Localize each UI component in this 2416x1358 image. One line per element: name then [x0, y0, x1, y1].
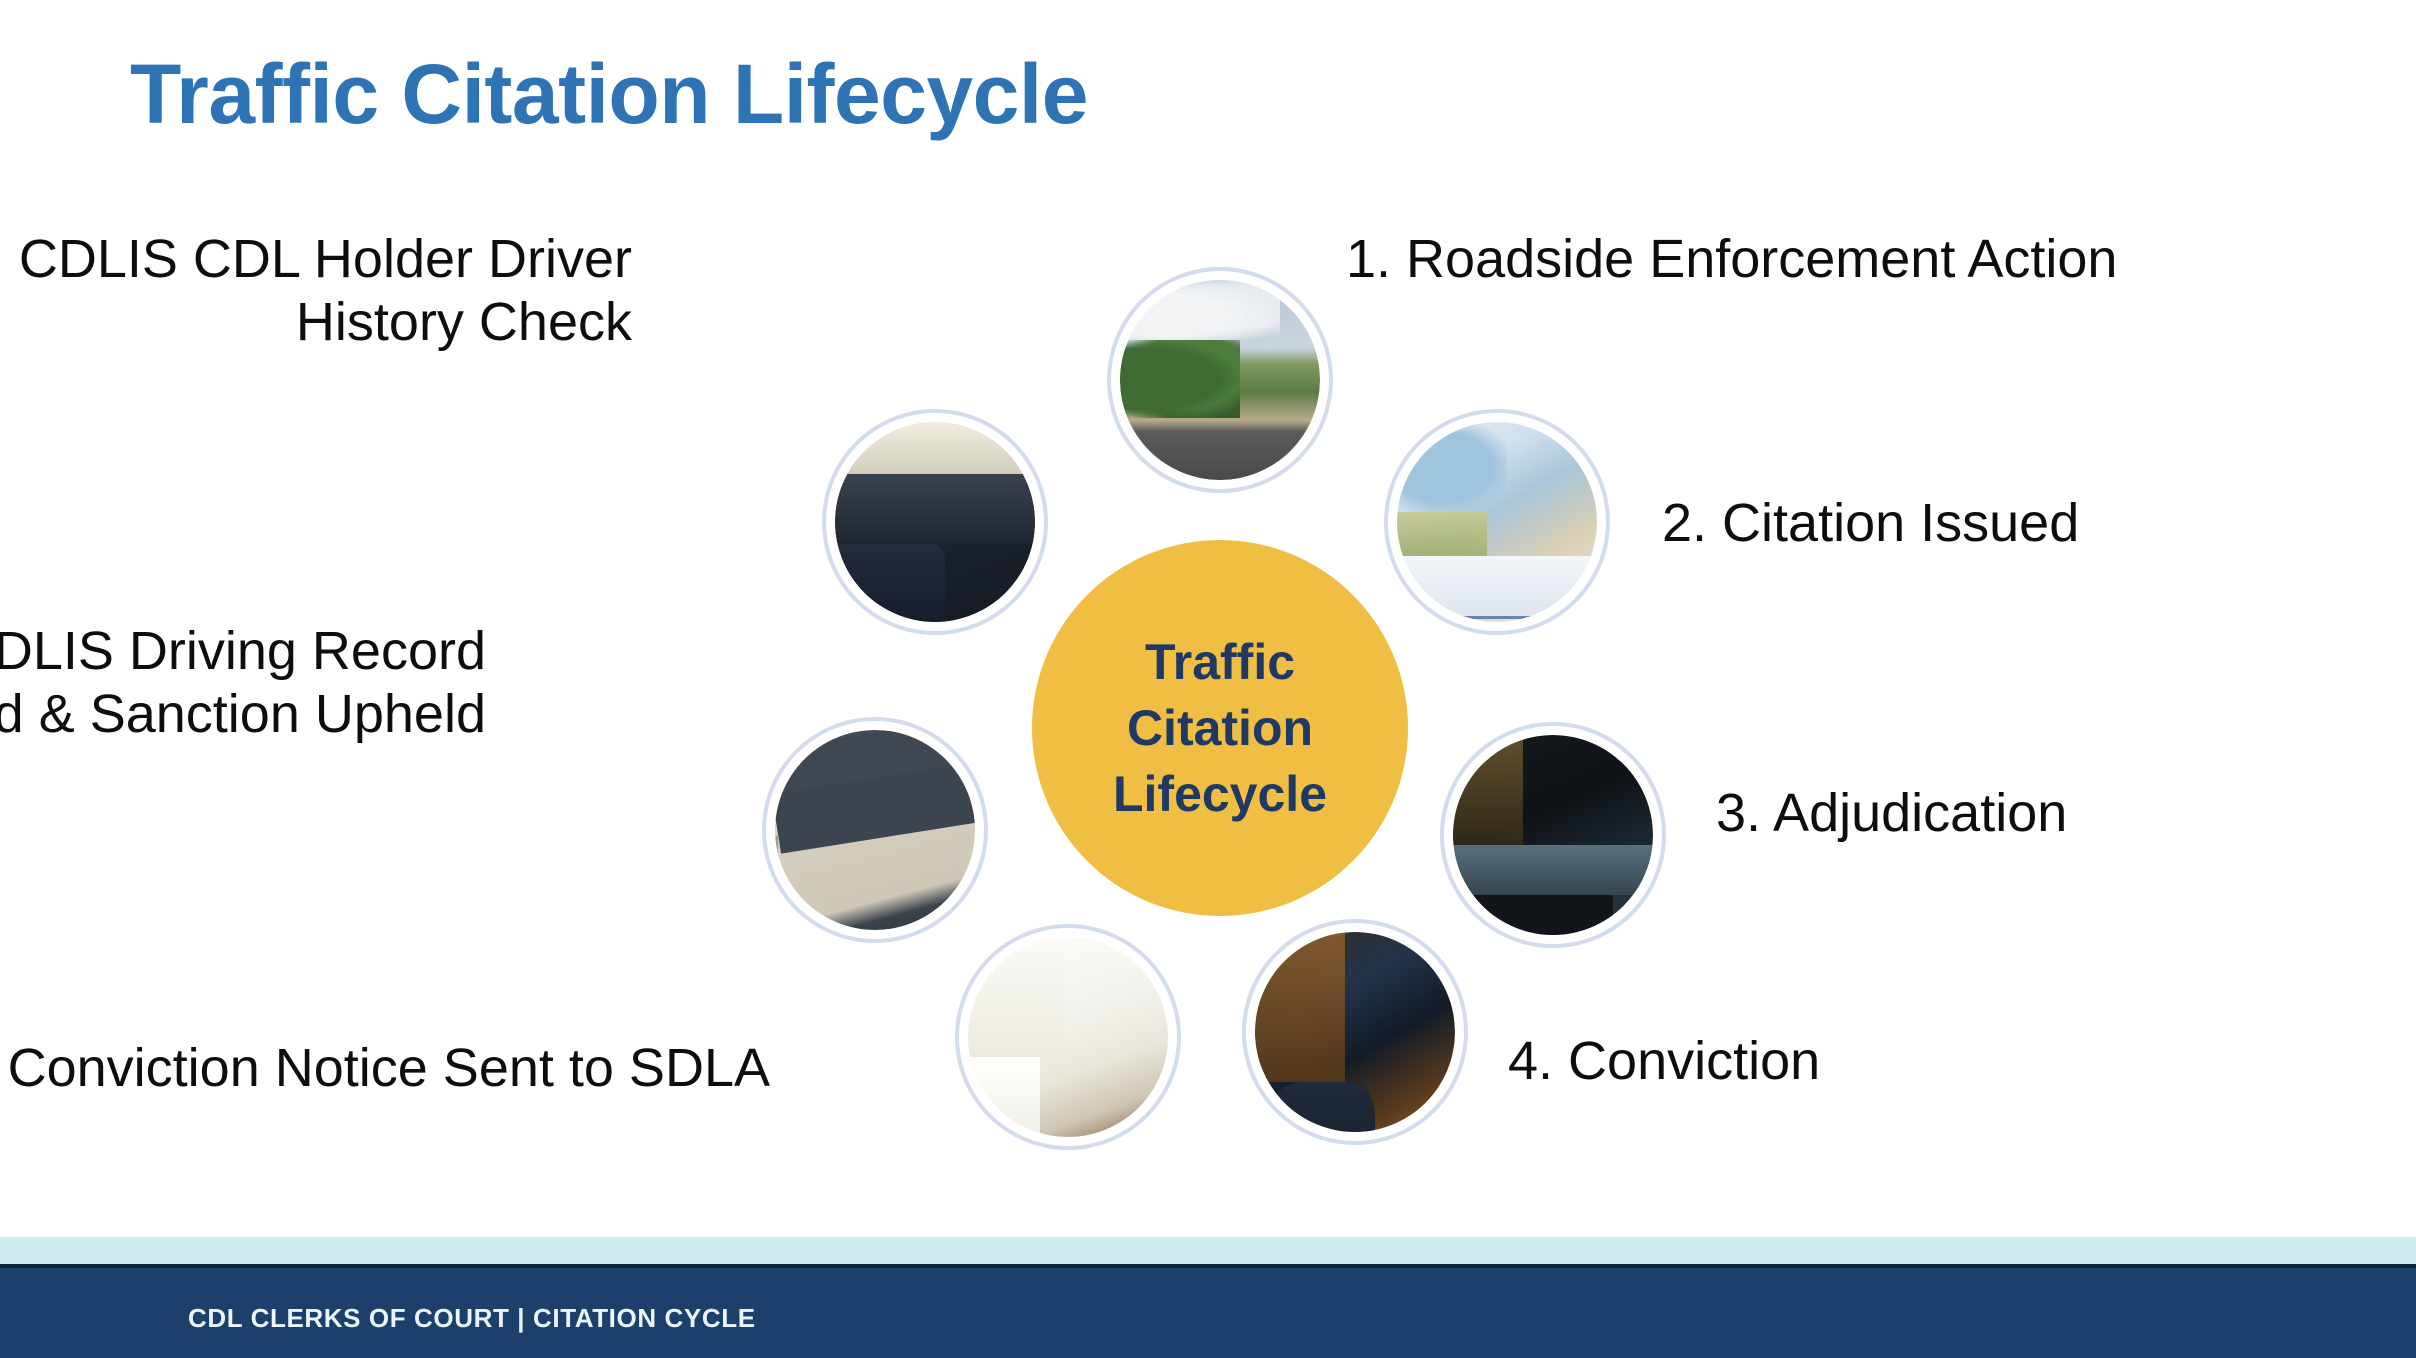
cycle-label-5-conviction-notice-sdla: 5. Conviction Notice Sent to SDLA	[0, 1037, 770, 1100]
cycle-label-1-roadside-enforcement: 1. Roadside Enforcement Action	[1346, 228, 2117, 291]
courtroom-gavel-photo	[1255, 932, 1455, 1132]
cycle-node-5-conviction-notice-sdla[interactable]	[968, 937, 1168, 1137]
cycle-node-1-roadside-enforcement[interactable]	[1120, 280, 1320, 480]
cycle-label-7-cdlis-driver-history-check: 7. CDLIS CDL Holder Driver History Check	[0, 228, 632, 354]
hand-opening-laptop-photo	[968, 937, 1168, 1137]
hands-typing-laptop-photo	[1453, 735, 1653, 935]
cycle-node-3-adjudication[interactable]	[1453, 735, 1653, 935]
cycle-label-2-citation-issued: 2. Citation Issued	[1662, 492, 2079, 555]
cycle-node-6-cdlis-record-updated[interactable]: dmv	[775, 730, 975, 930]
dmv-building-sign-photo: dmv	[775, 730, 975, 930]
cycle-node-2-citation-issued[interactable]	[1397, 422, 1597, 622]
cycle-node-4-conviction[interactable]	[1255, 932, 1455, 1132]
footer-accent-band	[0, 1237, 2416, 1264]
cycle-label-4-conviction: 4. Conviction	[1508, 1030, 1820, 1093]
cycle-center-hub: Traffic Citation Lifecycle	[1032, 540, 1408, 916]
officer-patrol-car-terminal-photo	[835, 422, 1035, 622]
cycle-label-3-adjudication: 3. Adjudication	[1716, 782, 2067, 845]
footer-text: CDL CLERKS OF COURT | CITATION CYCLE	[188, 1303, 756, 1334]
hub-line-1: Traffic	[1145, 629, 1295, 695]
roadside-truck-inspection-photo	[1120, 280, 1320, 480]
hub-line-3: Lifecycle	[1113, 761, 1327, 827]
cycle-node-7-cdlis-driver-history-check[interactable]	[835, 422, 1035, 622]
cycle-label-6-cdlis-record-updated: 6. CDLIS Driving Record updated & Sancti…	[0, 620, 486, 746]
hand-writing-citation-photo	[1397, 422, 1597, 622]
hub-line-2: Citation	[1127, 695, 1313, 761]
